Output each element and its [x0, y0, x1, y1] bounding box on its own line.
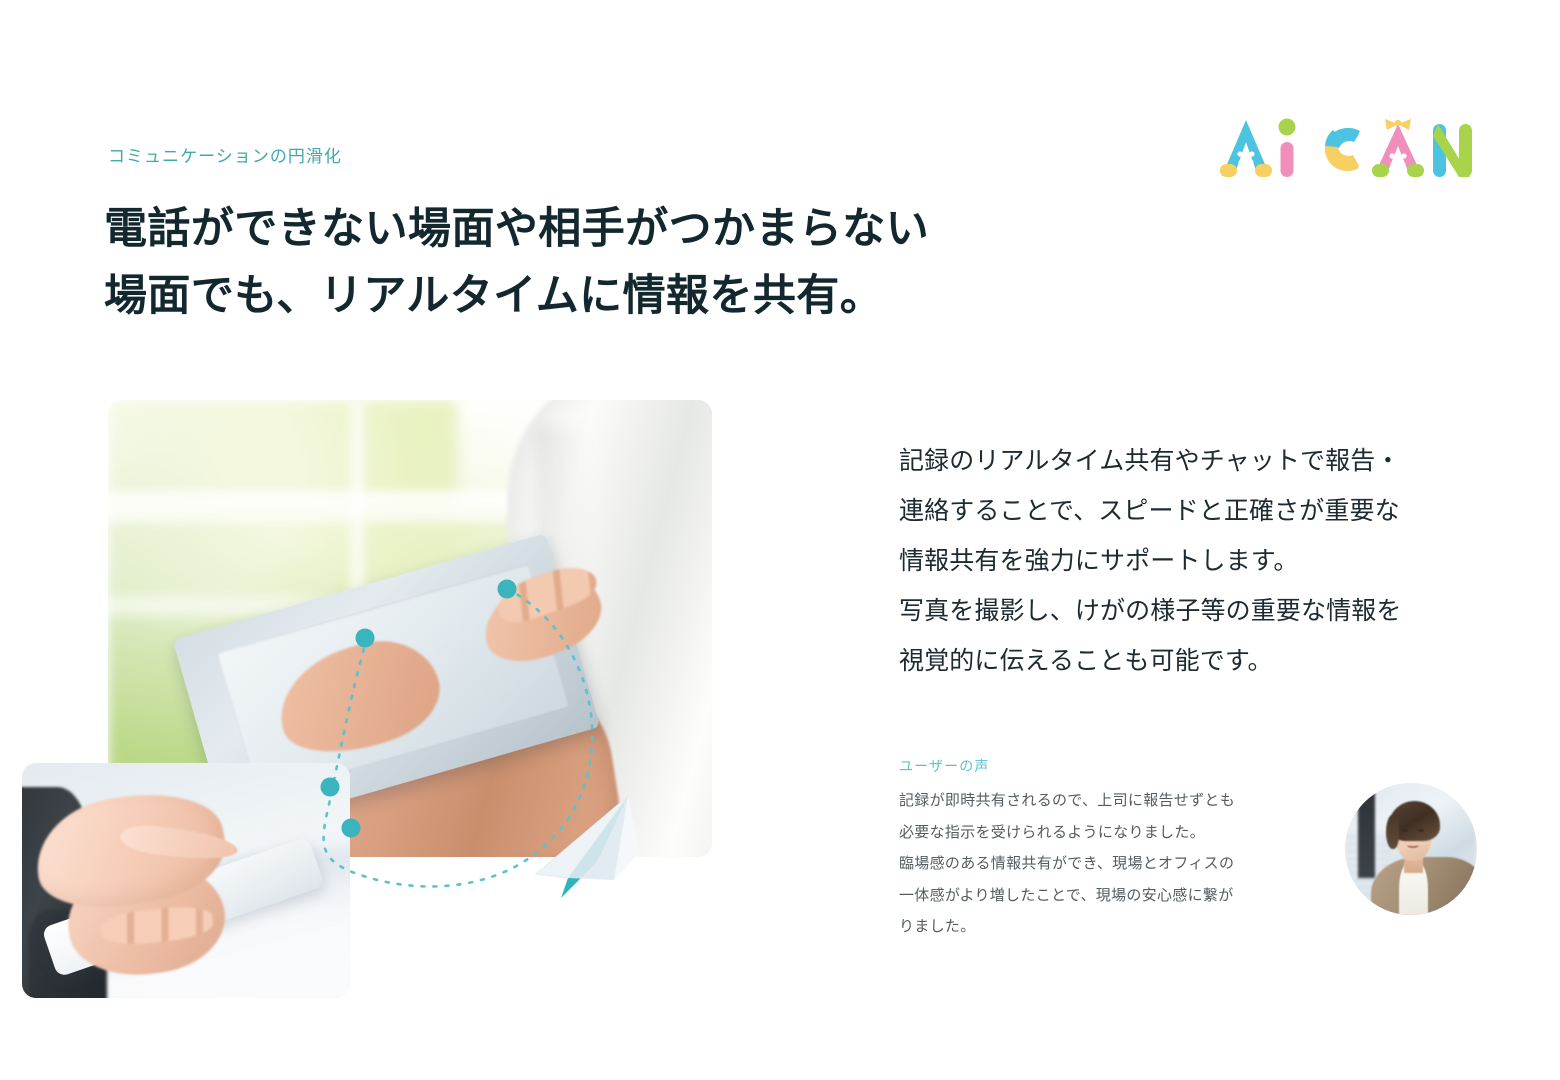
body-line-1: 記録のリアルタイム共有やチャットで報告・: [899, 436, 1459, 486]
headline-line-2: 場面でも、リアルタイムに情報を共有。: [104, 263, 929, 330]
logo-letter-c: [1325, 128, 1360, 171]
headline-line-1: 電話ができない場面や相手がつかまらない: [104, 196, 929, 263]
aican-logo: [1214, 112, 1476, 188]
page-title: 電話ができない場面や相手がつかまらない 場面でも、リアルタイムに情報を共有。: [104, 196, 929, 329]
logo-letter-i: [1279, 119, 1296, 178]
testimonial-label: ユーザーの声: [899, 756, 1459, 776]
body-line-2: 連絡することで、スピードと正確さが重要な: [899, 486, 1459, 536]
avatar-window-frame: [1358, 783, 1375, 878]
logo-letter-a-blue: [1220, 120, 1272, 177]
slide-root: コミュニケーションの円滑化 電話ができない場面や相手がつかまらない 場面でも、リ…: [0, 0, 1560, 1080]
logo-letter-n: [1433, 124, 1472, 177]
body-line-4: 写真を撮影し、けがの様子等の重要な情報を: [899, 586, 1459, 636]
avatar-hair-side: [1386, 815, 1399, 849]
avatar: [1345, 783, 1477, 915]
inset-photo: [22, 763, 350, 998]
logo-letter-a-pink: [1372, 119, 1424, 177]
body-copy: 記録のリアルタイム共有やチャットで報告・ 連絡することで、スピードと正確さが重要…: [899, 436, 1459, 686]
body-line-3: 情報共有を強力にサポートします。: [899, 536, 1459, 586]
avatar-smile: [1407, 842, 1419, 847]
body-line-5: 視覚的に伝えることも可能です。: [899, 636, 1459, 686]
eyebrow-label: コミュニケーションの円滑化: [108, 142, 342, 167]
quote-line-5: りました。: [899, 911, 1459, 943]
